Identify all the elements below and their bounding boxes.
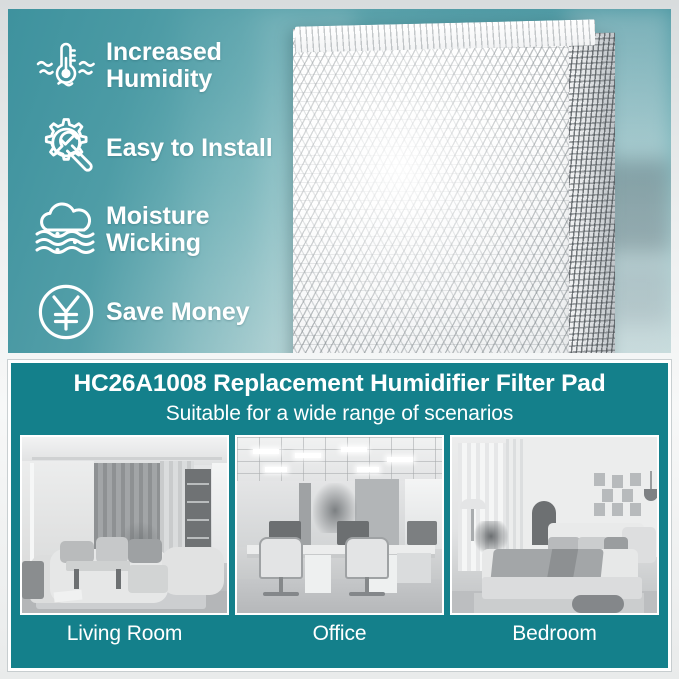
page-subtitle: Suitable for a wide range of scenarios <box>11 402 668 426</box>
feature-label: Increased Humidity <box>106 39 222 93</box>
page-title: HC26A1008 Replacement Humidifier Filter … <box>11 370 668 398</box>
feature-item-save-money: Save Money <box>26 271 326 353</box>
feature-list: Increased Humidity Easy to Install <box>26 25 326 353</box>
feature-label: Save Money <box>106 299 250 326</box>
feature-item-easy-to-install: Easy to Install <box>26 107 326 189</box>
feature-label: Easy to Install <box>106 135 273 162</box>
filter-pad-product-image <box>293 19 623 353</box>
feature-item-moisture-wicking: Moisture Wicking <box>26 189 326 271</box>
cloud-moisture-waves-icon <box>26 193 106 267</box>
bedroom-photo <box>450 435 659 615</box>
scene-card-living-room: Living Room <box>20 435 229 646</box>
feature-item-increased-humidity: Increased Humidity <box>26 25 326 107</box>
thermometer-humidity-icon <box>26 29 106 103</box>
scene-caption: Living Room <box>20 622 229 646</box>
gear-wrench-icon <box>26 111 106 185</box>
office-photo <box>235 435 444 615</box>
scene-card-bedroom: Bedroom <box>450 435 659 646</box>
feature-label: Moisture Wicking <box>106 203 209 257</box>
product-infographic: Increased Humidity Easy to Install <box>0 0 679 679</box>
scene-caption: Bedroom <box>450 622 659 646</box>
scene-card-office: Office <box>235 435 444 646</box>
scenarios-banner: HC26A1008 Replacement Humidifier Filter … <box>8 360 671 671</box>
scene-caption: Office <box>235 622 444 646</box>
hero-panel: Increased Humidity Easy to Install <box>8 9 671 353</box>
living-room-photo <box>20 435 229 615</box>
scene-card-list: Living Room <box>20 435 659 646</box>
yen-coin-icon <box>26 275 106 349</box>
